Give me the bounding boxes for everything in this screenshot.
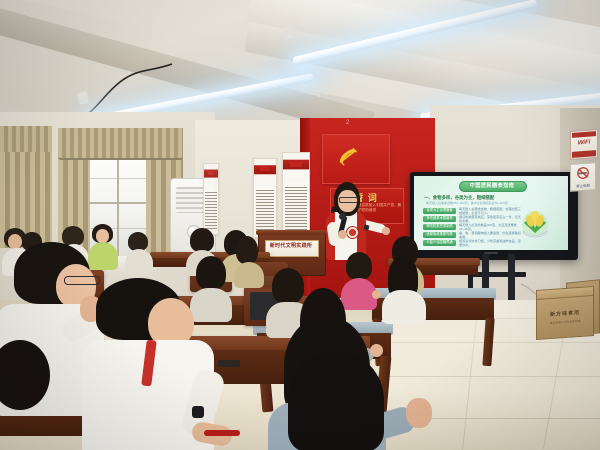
box-flap bbox=[537, 287, 593, 300]
shirt-trim bbox=[204, 430, 240, 436]
wifi-sign: WiFi bbox=[570, 129, 598, 160]
presenter-glasses bbox=[339, 197, 358, 203]
no-smoking-sign: 禁止吸烟 bbox=[570, 162, 596, 192]
light-fixture-cap-1 bbox=[77, 91, 89, 105]
microphone-head bbox=[339, 213, 346, 220]
eyeglasses-icon bbox=[64, 276, 100, 285]
podium-plate-text: 新时代文明实践所 bbox=[265, 242, 317, 249]
presenter-left-hand bbox=[338, 230, 347, 239]
window-left-edge bbox=[0, 126, 52, 246]
tv-cart-pole-right bbox=[508, 254, 515, 306]
no-smoking-label: 禁止吸烟 bbox=[571, 182, 595, 189]
box-sublabel: 食品有限公司出品专用箱 bbox=[537, 318, 593, 326]
wristwatch bbox=[192, 406, 204, 418]
slide-divider-icon bbox=[450, 185, 536, 186]
led-display[interactable]: 中国居民膳食指南 一、食物多样，谷类为主，粗细搭配 每天摄入谷薯类食物250~4… bbox=[410, 172, 578, 260]
wall-scroll-2 bbox=[282, 152, 310, 240]
no-smoking-icon bbox=[574, 165, 592, 180]
wall-marking: 2 bbox=[346, 120, 349, 126]
wifi-sign-bottom-bar bbox=[572, 150, 596, 158]
presenter-right-hand bbox=[382, 227, 390, 235]
slide-subtitle-note: 每天摄入谷薯类食物250~400克，其中全谷物和杂豆50~150克 bbox=[426, 201, 508, 205]
wifi-sign-top-bar bbox=[572, 131, 596, 138]
wall-scroll-3 bbox=[203, 163, 219, 235]
classroom-photo-scene: 2 誓 词 我志愿加入中国共产党，拥护党的纲领 中国居民膳食指南 bbox=[0, 0, 600, 450]
slide-screen: 中国居民膳食指南 一、食物多样，谷类为主，粗细搭配 每天摄入谷薯类食物250~4… bbox=[414, 176, 568, 250]
wall-scroll-1 bbox=[253, 158, 277, 238]
desk-cable-port bbox=[218, 360, 240, 367]
curtain-valance-main bbox=[58, 128, 183, 160]
cardboard-box: 新方味食用 食品有限公司出品专用箱 bbox=[536, 286, 594, 340]
box-label: 新方味食用 bbox=[537, 308, 593, 319]
volunteer-logo-icon bbox=[346, 226, 359, 239]
grain-bowl-icon bbox=[518, 209, 552, 239]
wifi-sign-label: WiFi bbox=[571, 139, 597, 147]
cpc-emblem-icon bbox=[335, 143, 361, 169]
